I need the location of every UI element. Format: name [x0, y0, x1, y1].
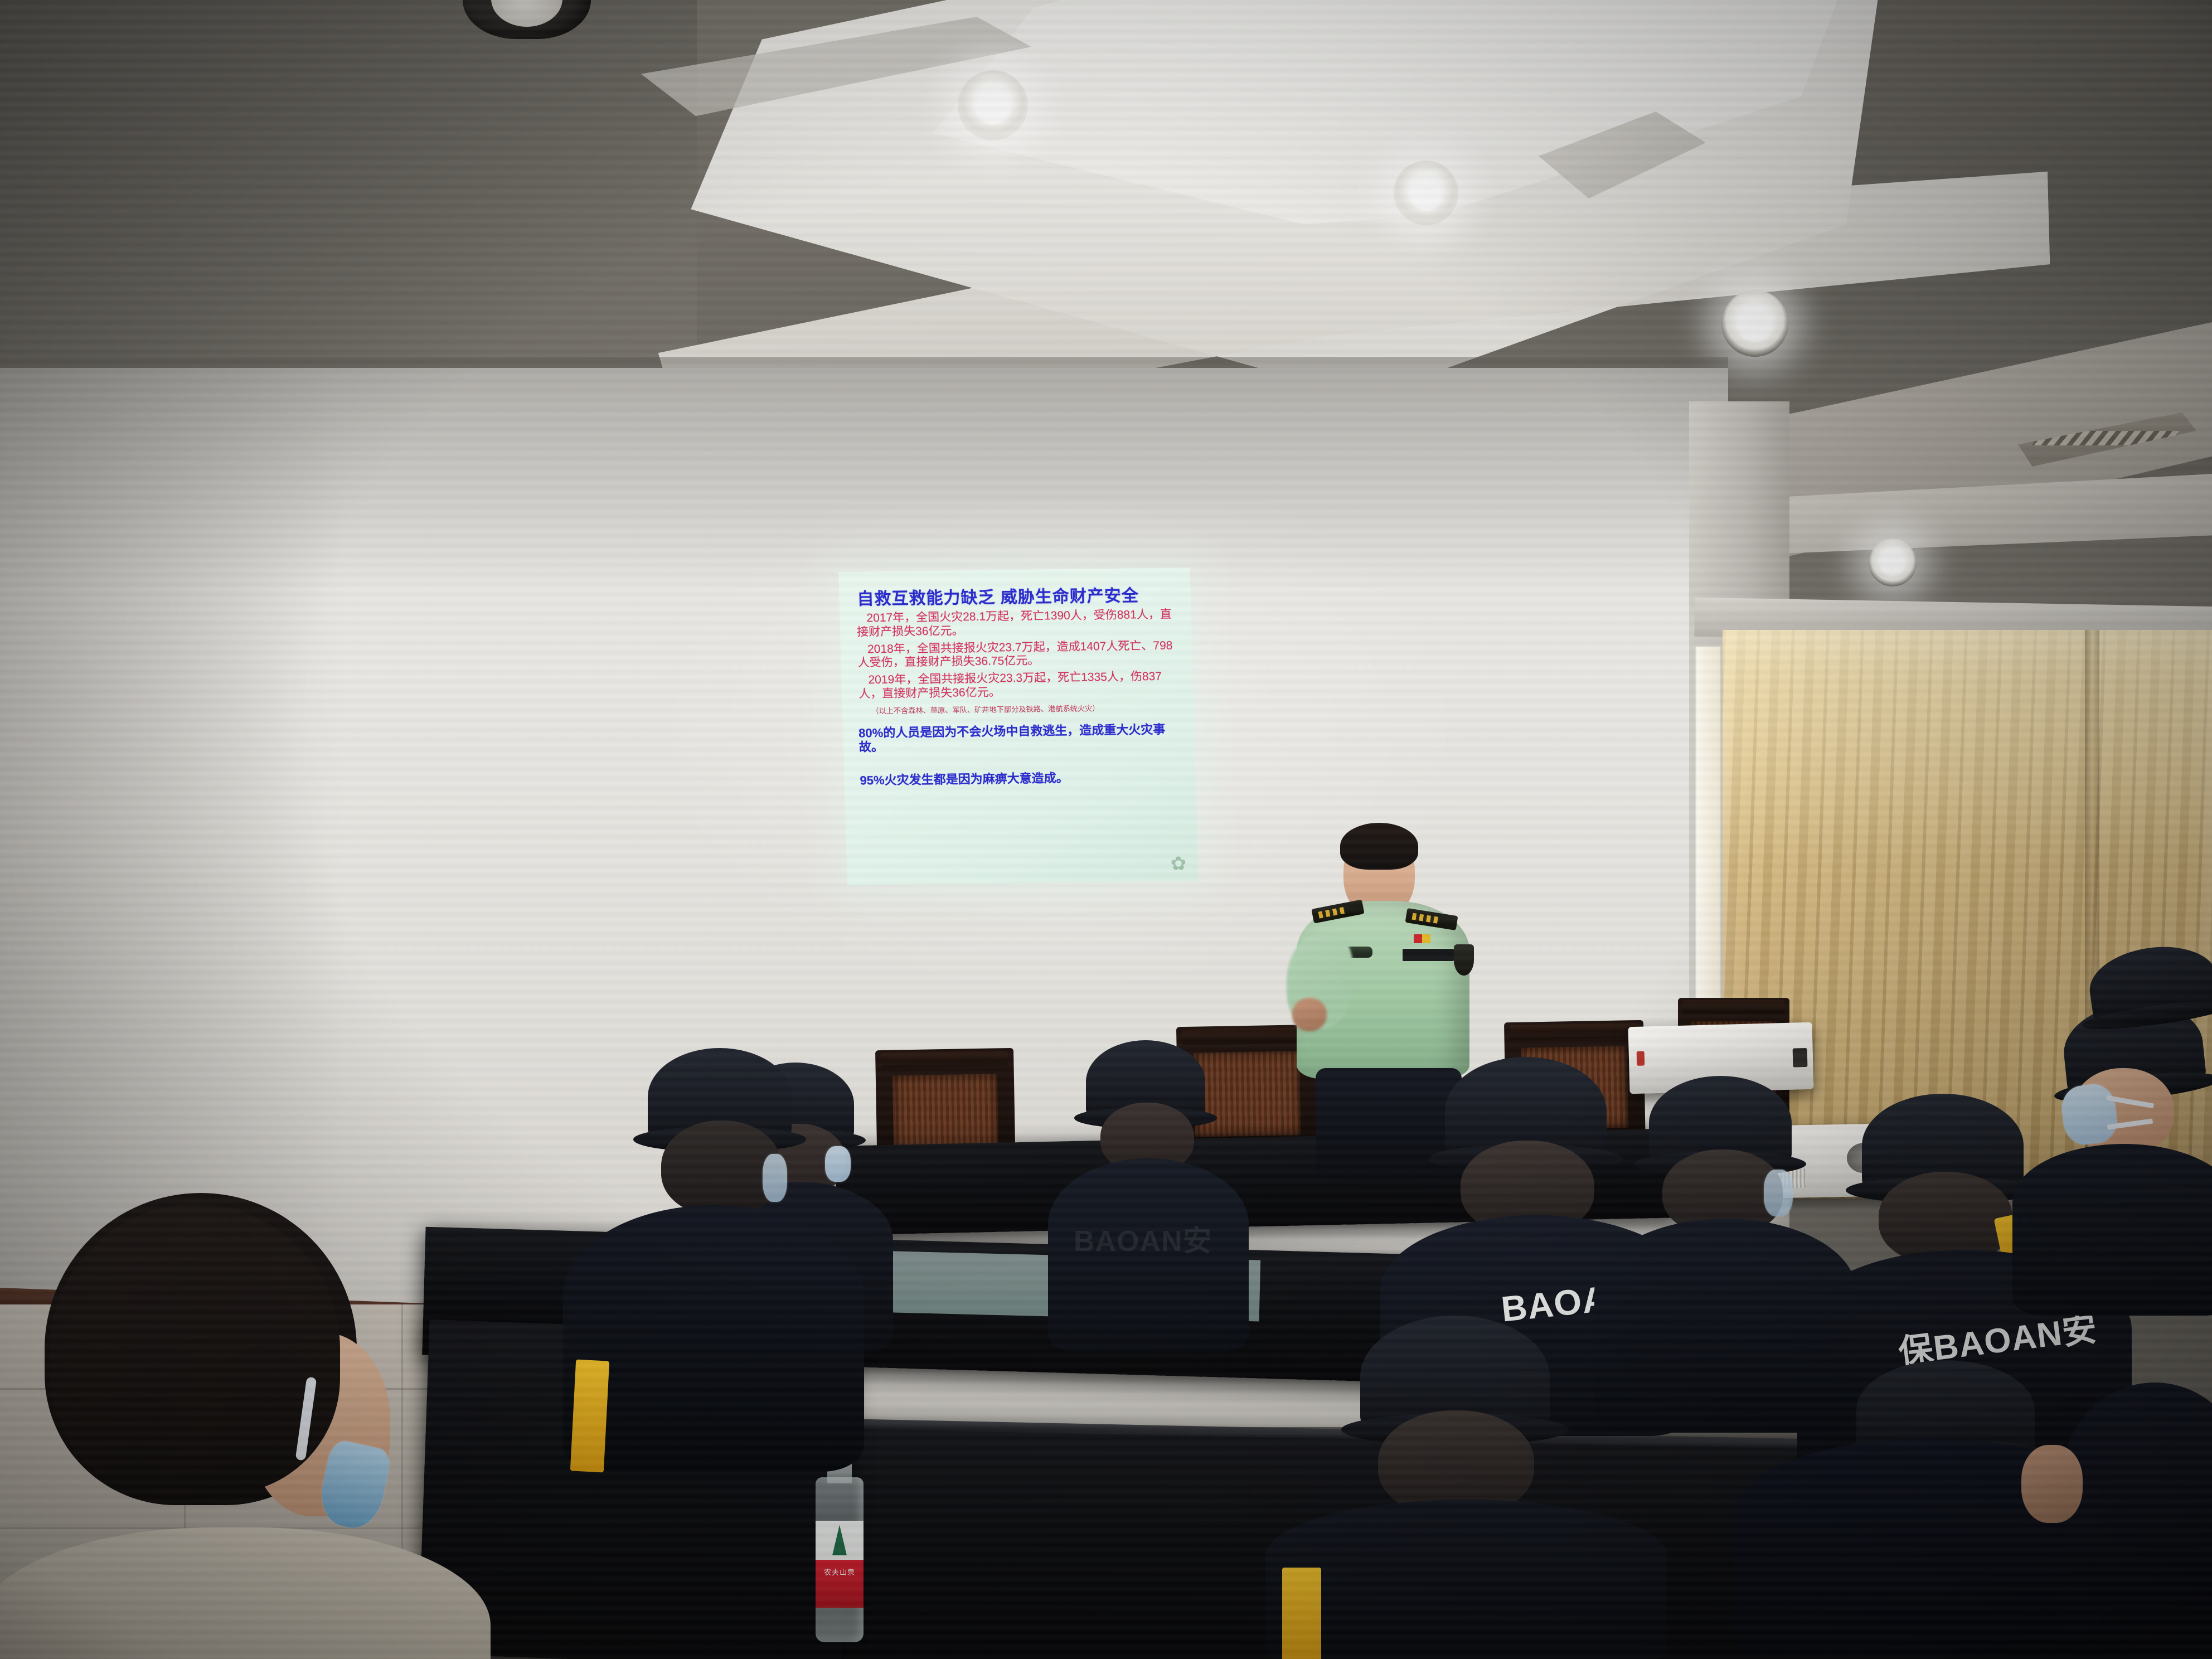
audience-member [585, 1048, 842, 1472]
torso [563, 1205, 864, 1472]
slide-stat-2017: 2017年，全国火灾28.1万起，死亡1390人，受伤881人，直接财产损失36… [856, 608, 1179, 640]
downlight-icon [1394, 161, 1458, 225]
slide-stat-2018: 2018年，全国共接报火灾23.7万起，造成1407人死亡、798人受伤，直接财… [857, 639, 1180, 671]
meeting-room-photo: 自救互救能力缺乏 威胁生命财产安全 2017年，全国火灾28.1万起，死亡139… [0, 0, 2212, 1659]
audience-member [2029, 948, 2212, 1115]
presenter-flag-pin-icon [1414, 934, 1430, 943]
cap [2085, 939, 2212, 1029]
curtain-backlight [1723, 630, 2212, 864]
downlight-icon [958, 70, 1028, 140]
torso [2063, 1382, 2212, 1659]
slide-footnote: （以上不含森林、草原、军队、矿井地下部分及铁路、港航系统火灾） [871, 701, 1182, 716]
uniform-back-print: BAOAN安 [1074, 1217, 1212, 1259]
ceiling-shadow-left [0, 0, 697, 357]
slide-highlight-95: 95%火灾发生都是因为麻痹大意造成。 [860, 767, 1183, 789]
face-mask [1764, 1170, 1793, 1216]
slide-statistics-list: 2017年，全国火灾28.1万起，死亡1390人，受伤881人，直接财产损失36… [856, 608, 1181, 702]
foreground-person [11, 1193, 491, 1659]
audience-member [2063, 1382, 2212, 1659]
slide-title: 自救互救能力缺乏 威胁生命财产安全 [857, 581, 1178, 610]
bottle-brand-label: 农夫山泉 [809, 1566, 870, 1577]
projected-slide: 自救互救能力缺乏 威胁生命财产安全 2017年，全国火灾28.1万起，死亡139… [838, 567, 1199, 885]
torso [1265, 1500, 1667, 1659]
armband-icon [1282, 1568, 1321, 1659]
presenter-arm-patch-icon [1454, 944, 1474, 976]
presenter-name-tag [1403, 949, 1454, 961]
hand [2021, 1445, 2083, 1523]
audience-member: BAOAN安 [1054, 1040, 1243, 1352]
slide-highlight-80: 80%的人员是因为不会火场中自救逃生，造成重大火灾事故。 [858, 722, 1182, 754]
audience-member [1288, 1316, 1645, 1659]
slide-flower-logo-icon: ✿ [1165, 851, 1191, 877]
face-mask [763, 1154, 787, 1202]
slide-stat-2019: 2019年，全国共接报火灾23.3万起，死亡1335人，伤837人，直接财产损失… [858, 670, 1181, 702]
torso [2012, 1144, 2212, 1316]
downlight-icon [1869, 539, 1917, 586]
downlight-icon [1721, 290, 1788, 357]
presenter-hair [1340, 823, 1418, 870]
presenter-hand [1292, 998, 1327, 1031]
armband-icon [570, 1360, 609, 1473]
foreground-shirt [0, 1527, 491, 1659]
